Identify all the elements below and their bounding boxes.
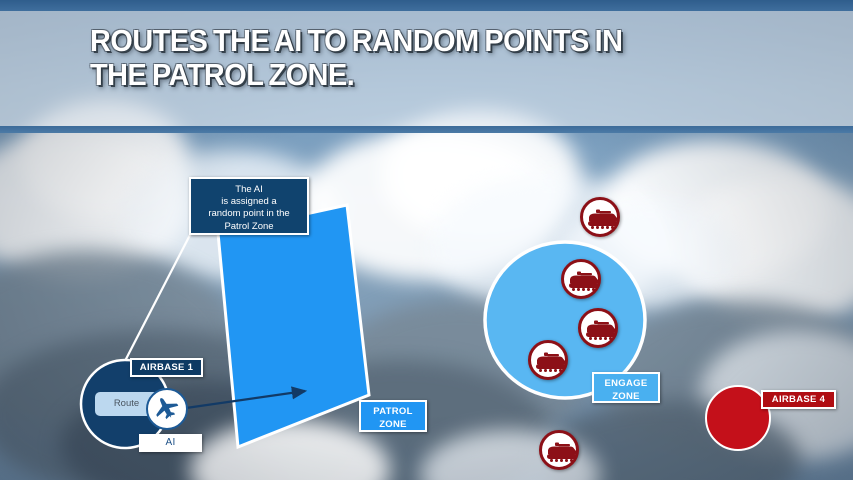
callout-line-2: is assigned a	[191, 196, 307, 208]
engage-zone-label[interactable]: ENGAGE ZONE	[592, 372, 660, 403]
enemy-tank-icon[interactable]	[578, 308, 618, 348]
enemy-tank-icon[interactable]	[539, 430, 579, 470]
ai-label[interactable]: AI	[139, 434, 202, 452]
enemy-tank-icon[interactable]	[580, 197, 620, 237]
callout-line-1: The AI	[191, 184, 307, 196]
patrol-zone-label-line1: PATROL	[361, 405, 425, 418]
slide-canvas: ROUTES THE AI TO RANDOM POINTS IN THE PA…	[0, 0, 853, 480]
enemy-tank-icon[interactable]	[528, 340, 568, 380]
callout-box: The AI is assigned a random point in the…	[189, 177, 309, 235]
enemy-tank-icon[interactable]	[561, 259, 601, 299]
patrol-zone-label-line2: ZONE	[361, 418, 425, 431]
callout-line-4: Patrol Zone	[191, 221, 307, 233]
engage-zone-label-line2: ZONE	[594, 390, 658, 403]
callout-line-3: random point in the	[191, 208, 307, 220]
fighter-jet-icon[interactable]	[146, 388, 188, 430]
patrol-zone-shape[interactable]	[218, 205, 369, 447]
engage-zone-label-line1: ENGAGE	[594, 377, 658, 390]
patrol-zone-label[interactable]: PATROL ZONE	[359, 400, 427, 432]
airbase-1-label[interactable]: AIRBASE 1	[130, 358, 203, 377]
airbase-4-label[interactable]: AIRBASE 4	[761, 390, 836, 409]
